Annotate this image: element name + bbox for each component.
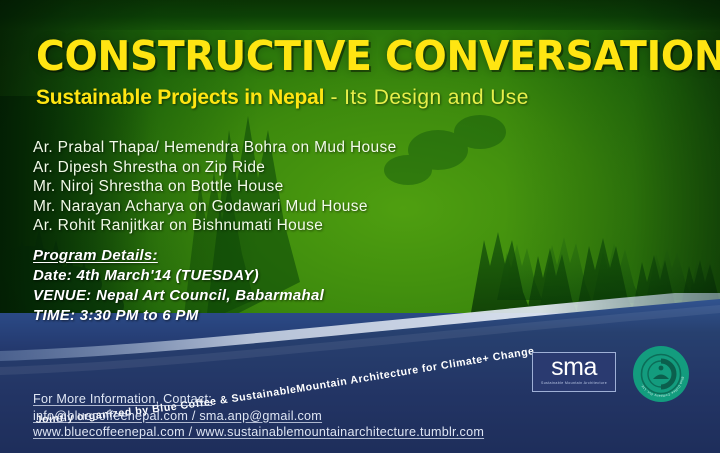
contact-emails[interactable]: info@bluecoffeenepal.com / sma.anp@gmail… (33, 408, 484, 425)
contact-block: For More Information, Contact: info@blue… (33, 391, 484, 441)
sma-logo-tagline: Sustainable Mountain Architecture (541, 380, 607, 386)
poster-headline: CONSTRUCTIVE CONVERSATIONS (36, 33, 720, 79)
contact-heading: For More Information, Contact: (33, 391, 484, 408)
program-details-heading: Program Details: (33, 246, 324, 266)
list-item: Mr. Niroj Shrestha on Bottle House (33, 177, 397, 197)
list-item: Mr. Narayan Acharya on Godawari Mud Hous… (33, 197, 397, 217)
subtitle-bold-part: Sustainable Projects in Nepal (36, 86, 324, 109)
event-poster: CONSTRUCTIVE CONVERSATIONS Sustainable P… (0, 0, 720, 453)
blue-coffee-logo: Blue Coffee Company Pvt. Ltd. (632, 345, 690, 403)
poster-subtitle: Sustainable Projects in Nepal - Its Desi… (36, 85, 529, 111)
contact-websites[interactable]: www.bluecoffeenepal.com / www.sustainabl… (33, 424, 484, 441)
speaker-list: Ar. Prabal Thapa/ Hemendra Bohra on Mud … (33, 138, 397, 236)
list-item: Ar. Rohit Ranjitkar on Bishnumati House (33, 216, 397, 236)
list-item: Ar. Dipesh Shrestha on Zip Ride (33, 158, 397, 178)
subtitle-thin-part: - Its Design and Use (324, 86, 529, 109)
program-date: Date: 4th March'14 (TUESDAY) (33, 266, 324, 286)
list-item: Ar. Prabal Thapa/ Hemendra Bohra on Mud … (33, 138, 397, 158)
sma-logo-wordmark: sma (551, 354, 597, 380)
sma-logo: sma Sustainable Mountain Architecture (532, 352, 616, 392)
